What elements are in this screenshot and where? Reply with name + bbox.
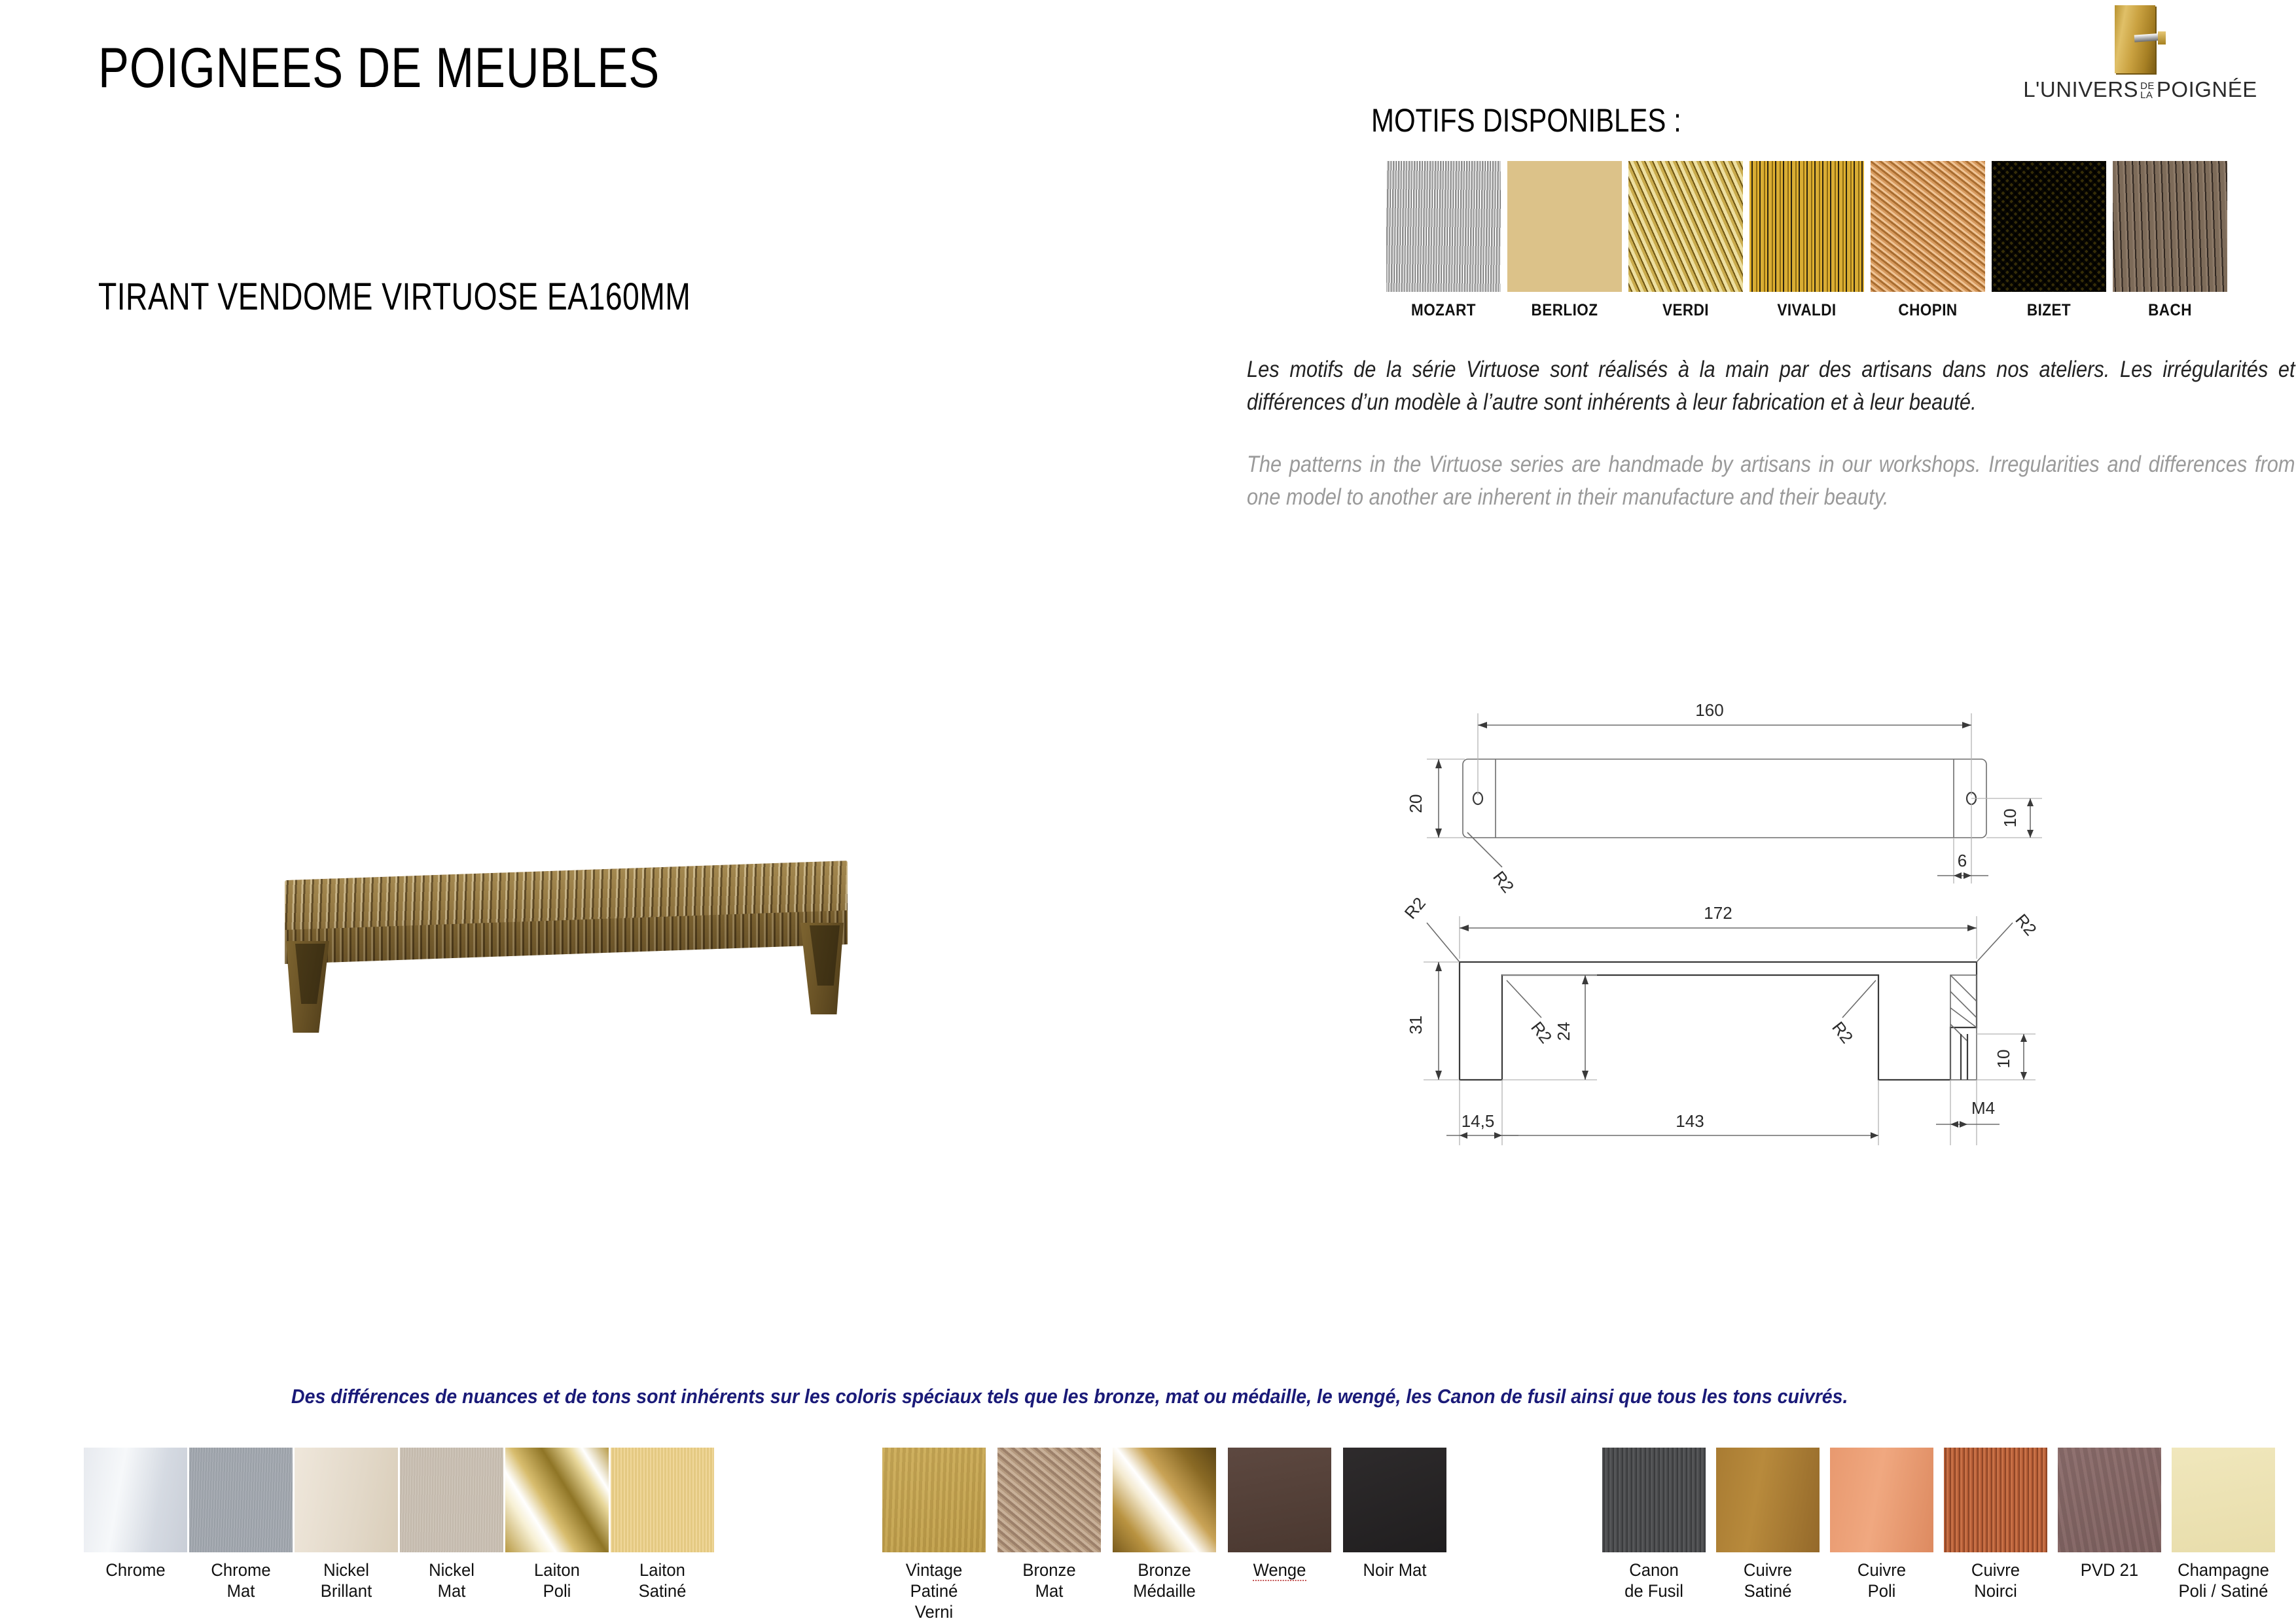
finish-canon-de-fusil[interactable]: Canonde Fusil — [1602, 1448, 1706, 1602]
finish-label-line1: Bronze — [1022, 1560, 1075, 1580]
finish-label-line1: Bronze — [1138, 1560, 1191, 1580]
dim-total-height: 31 — [1406, 1016, 1426, 1035]
finish-swatch — [2172, 1448, 2275, 1552]
finish-label-line1: Laiton — [639, 1560, 685, 1580]
motifs-strip: MOZART BERLIOZ VERDI VIVALDI CHOPIN BIZE… — [1386, 161, 2227, 320]
dim-width: 20 — [1406, 794, 1426, 813]
finish-bronze-mat[interactable]: BronzeMat — [997, 1448, 1101, 1602]
finish-swatch — [84, 1448, 187, 1552]
finish-group-silver-gold: Chrome ChromeMat NickelBrillant NickelMa… — [84, 1448, 714, 1602]
motif-swatch-berlioz — [1507, 161, 1622, 292]
finish-label-line2: Mat — [438, 1581, 466, 1601]
finish-chrome[interactable]: Chrome — [84, 1448, 187, 1581]
brand-name-part2: POIGNÉE — [2157, 77, 2257, 101]
dim-radius-side-rt: R2 — [2011, 910, 2040, 940]
finish-swatch — [1343, 1448, 1446, 1552]
finish-group-bronze-dark: Vintage PatinéVerni BronzeMat BronzeMéda… — [882, 1448, 1446, 1623]
motif-chopin[interactable]: CHOPIN — [1871, 161, 1985, 320]
finish-swatch — [189, 1448, 293, 1552]
dim-leg-offset: 14,5 — [1462, 1111, 1495, 1131]
dim-thread-depth: 10 — [1994, 1050, 2013, 1069]
finish-label-line1: Chrome — [211, 1560, 270, 1580]
finish-swatch — [1716, 1448, 1820, 1552]
finish-swatch — [2058, 1448, 2161, 1552]
dim-center-distance: 160 — [1695, 700, 1723, 720]
colour-variation-note: Des différences de nuances et de tons so… — [291, 1385, 1848, 1408]
dim-radius-inner-left: R2 — [1527, 1018, 1556, 1047]
finish-label-line1: Champagne — [2178, 1560, 2269, 1580]
finish-label-line1: Noir Mat — [1363, 1560, 1427, 1580]
motif-swatch-verdi — [1628, 161, 1743, 292]
motifs-heading: MOTIFS DISPONIBLES : — [1371, 101, 1681, 139]
cabinet-door-icon — [2115, 5, 2166, 73]
finish-nickel-mat[interactable]: NickelMat — [400, 1448, 503, 1602]
dim-thread: M4 — [1971, 1098, 1995, 1118]
finish-cuivre-noirci[interactable]: CuivreNoirci — [1944, 1448, 2047, 1602]
finish-swatch — [882, 1448, 986, 1552]
dim-radius-top: R2 — [1489, 867, 1518, 897]
dim-end-offset: 10 — [2000, 809, 2020, 828]
dim-radius-inner-right: R2 — [1828, 1018, 1857, 1047]
technical-drawing: 160 20 10 6 R2 — [1361, 687, 2094, 1171]
motif-bach[interactable]: BACH — [2113, 161, 2227, 320]
finish-cuivre-poli[interactable]: CuivrePoli — [1830, 1448, 1933, 1602]
motif-swatch-bach — [2113, 161, 2227, 292]
motif-label: BIZET — [1998, 301, 2101, 320]
finish-chrome-mat[interactable]: ChromeMat — [189, 1448, 293, 1602]
finish-label-line2: Satiné — [1744, 1581, 1792, 1601]
motif-label: CHOPIN — [1876, 301, 1980, 320]
finish-swatch — [611, 1448, 714, 1552]
finish-swatch — [505, 1448, 609, 1552]
brand-logo: L'UNIVERSDELAPOIGNÉE — [2000, 5, 2281, 102]
finish-swatch — [1944, 1448, 2047, 1552]
dim-radius-side-lt: R2 — [1401, 893, 1429, 923]
dim-inner-span: 143 — [1676, 1111, 1704, 1131]
finish-label-line2: Mat — [1035, 1581, 1064, 1601]
finish-nickel-brillant[interactable]: NickelBrillant — [295, 1448, 398, 1602]
finish-label-line1: Canon — [1629, 1560, 1679, 1580]
finish-swatch — [295, 1448, 398, 1552]
motif-label: VERDI — [1634, 301, 1738, 320]
finish-swatch — [1830, 1448, 1933, 1552]
finish-label-line1: Nickel — [323, 1560, 369, 1580]
motif-verdi[interactable]: VERDI — [1628, 161, 1743, 320]
finish-label-line1: Nickel — [429, 1560, 475, 1580]
finish-label-line1: Wenge — [1253, 1560, 1306, 1581]
description-en: The patterns in the Virtuose series are … — [1247, 448, 2295, 513]
brand-name-la: LA — [2140, 90, 2153, 101]
finish-label-line1: Chrome — [105, 1560, 165, 1580]
motif-berlioz[interactable]: BERLIOZ — [1507, 161, 1622, 320]
finish-group-copper-special: Canonde Fusil CuivreSatiné CuivrePoli Cu… — [1602, 1448, 2275, 1602]
finish-champagne-poli-satine[interactable]: ChampagnePoli / Satiné — [2172, 1448, 2275, 1602]
motif-label: BACH — [2119, 301, 2222, 320]
brand-name-part1: L'UNIVERS — [2023, 77, 2138, 101]
finish-label-line1: Cuivre — [1744, 1560, 1792, 1580]
page-title: POIGNEES DE MEUBLES — [98, 36, 660, 101]
finish-noir-mat[interactable]: Noir Mat — [1343, 1448, 1446, 1581]
description-fr: Les motifs de la série Virtuose sont réa… — [1247, 353, 2295, 418]
dim-clearance-height: 24 — [1554, 1022, 1573, 1041]
finish-label-line1: Cuivre — [1971, 1560, 2020, 1580]
finish-swatch — [400, 1448, 503, 1552]
finish-swatch — [1113, 1448, 1216, 1552]
finish-cuivre-satine[interactable]: CuivreSatiné — [1716, 1448, 1820, 1602]
finish-label-line2: Verni — [915, 1602, 953, 1622]
finish-wenge[interactable]: Wenge — [1228, 1448, 1331, 1581]
dim-hole-edge: 6 — [1958, 851, 1967, 870]
motif-label: VIVALDI — [1755, 301, 1859, 320]
finish-label-line2: de Fusil — [1624, 1581, 1683, 1601]
finish-label-line2: Satiné — [639, 1581, 687, 1601]
finish-laiton-satine[interactable]: LaitonSatiné — [611, 1448, 714, 1602]
motif-label: MOZART — [1392, 301, 1496, 320]
finish-label-line2: Poli / Satiné — [2179, 1581, 2269, 1601]
finish-laiton-poli[interactable]: LaitonPoli — [505, 1448, 609, 1602]
product-photo — [259, 857, 874, 1054]
knob-shape — [2158, 31, 2166, 45]
finish-label-line1: Cuivre — [1857, 1560, 1906, 1580]
finish-label-line1: PVD 21 — [2081, 1560, 2138, 1580]
finish-label-line2: Poli — [1868, 1581, 1896, 1601]
motif-label: BERLIOZ — [1513, 301, 1617, 320]
motif-vivaldi[interactable]: VIVALDI — [1749, 161, 1864, 320]
brand-name: L'UNIVERSDELAPOIGNÉE — [2000, 77, 2281, 102]
motif-swatch-bizet — [1992, 161, 2106, 292]
motif-bizet[interactable]: BIZET — [1992, 161, 2106, 320]
finish-label-line2: Médaille — [1133, 1581, 1196, 1601]
finish-label-line1: Vintage Patiné — [906, 1560, 963, 1601]
motif-swatch-vivaldi — [1749, 161, 1864, 292]
finish-swatch — [997, 1448, 1101, 1552]
finish-vintage-patine-verni[interactable]: Vintage PatinéVerni — [882, 1448, 986, 1623]
finish-label-line2: Poli — [543, 1581, 571, 1601]
motif-swatch-mozart — [1386, 161, 1501, 292]
motif-swatch-chopin — [1871, 161, 1985, 292]
finish-label-line2: Noirci — [1974, 1581, 2017, 1601]
finish-swatch — [1228, 1448, 1331, 1552]
motif-mozart[interactable]: MOZART — [1386, 161, 1501, 320]
dim-overall-length: 172 — [1704, 903, 1732, 923]
finish-label-line2: Mat — [227, 1581, 255, 1601]
finish-bronze-medaille[interactable]: BronzeMédaille — [1113, 1448, 1216, 1602]
finish-pvd-21[interactable]: PVD 21 — [2058, 1448, 2161, 1581]
product-title: TIRANT VENDOME VIRTUOSE EA160MM — [98, 275, 691, 319]
finish-label-line2: Brillant — [321, 1581, 372, 1601]
finish-swatch — [1602, 1448, 1706, 1552]
finish-label-line1: Laiton — [534, 1560, 580, 1580]
